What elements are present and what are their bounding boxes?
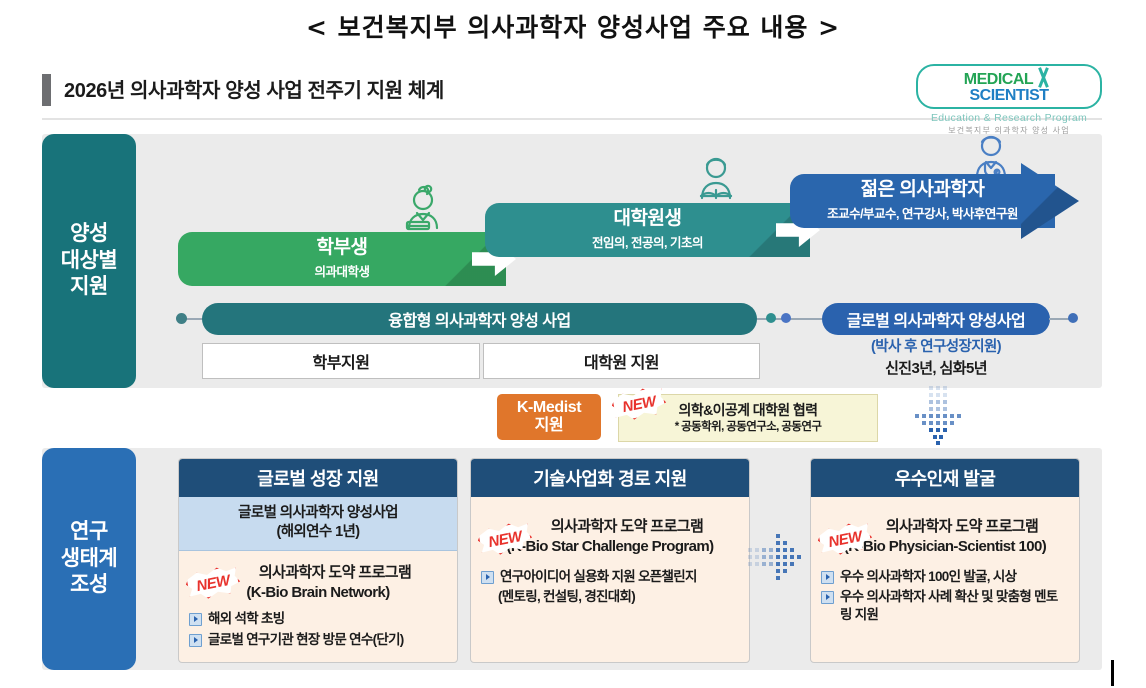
card-header: 우수인재 발굴 bbox=[811, 459, 1079, 497]
logo-wordmark: MEDICALSCIENTIST bbox=[916, 64, 1102, 109]
list-item: (멘토링, 컨설팅, 경진대회) bbox=[481, 588, 739, 606]
halftone-right-arrow-icon bbox=[748, 528, 810, 584]
stage-title: 대학원생 bbox=[614, 209, 682, 230]
new-badge-text: NEW bbox=[827, 527, 863, 550]
logo-x-icon bbox=[1035, 68, 1052, 87]
card-subsection: 글로벌 의사과학자 양성사업 (해외연수 1년) bbox=[179, 497, 457, 551]
stage-arrow-body: 대학원생 전임의, 전공의, 기초의 bbox=[485, 203, 810, 257]
medical-scientist-logo: MEDICALSCIENTIST Education & Research Pr… bbox=[916, 64, 1102, 120]
card-sub-line2: (해외연수 1년) bbox=[185, 523, 451, 542]
logo-word-medical: MEDICAL bbox=[964, 71, 1033, 88]
logo-tagline: Education & Research Program bbox=[916, 112, 1102, 124]
list-item: 해외 석학 초빙 bbox=[189, 610, 447, 628]
logo-word-scientist: SCIENTIST bbox=[969, 87, 1048, 104]
support-box-graduate: 대학원 지원 bbox=[483, 343, 760, 379]
new-badge-text: NEW bbox=[195, 571, 231, 594]
bullet-marker-icon bbox=[821, 591, 834, 604]
new-badge-text: NEW bbox=[621, 392, 657, 415]
stage-title: 학부생 bbox=[317, 238, 368, 259]
student-female-icon bbox=[395, 182, 451, 238]
card-bullet-list: 연구아이디어 실용화 지원 오픈챌린지 (멘토링, 컨설팅, 경진대회) bbox=[481, 568, 739, 607]
bullet-text: 해외 석학 초빙 bbox=[208, 610, 284, 628]
kmedist-label-line2: 지원 bbox=[535, 417, 564, 435]
header-band: 2026년 의사과학자 양성 사업 전주기 지원 체계 MEDICALSCIEN… bbox=[42, 70, 1102, 120]
kmedist-label-line1: K-Medist bbox=[517, 399, 581, 417]
stage-arrow-undergraduate: 학부생 의과대학생 bbox=[178, 232, 506, 286]
card-tech-commercialization: 기술사업화 경로 지원 의사과학자 도약 프로그램 (K-Bio Star Ch… bbox=[470, 458, 750, 663]
list-item: 우수 의사과학자 100인 발굴, 시상 bbox=[821, 568, 1069, 586]
connector-dot-right bbox=[1068, 313, 1078, 323]
bullet-text: 우수 의사과학자 사례 확산 및 맞춤형 멘토링 지원 bbox=[840, 588, 1069, 624]
kmedist-detail-line2: * 공동학위, 공동연구소, 공동연구 bbox=[675, 421, 822, 435]
stage-subtitle: 조교수/부교수, 연구강사, 박사후연구원 bbox=[827, 203, 1018, 222]
list-item: 글로벌 연구기관 현장 방문 연수(단기) bbox=[189, 631, 447, 649]
bullet-marker-icon bbox=[821, 571, 834, 584]
sidebar-label-training-target: 양성 대상별 지원 bbox=[42, 134, 136, 388]
text-cursor-artifact bbox=[1111, 660, 1114, 686]
card-bullet-list: 우수 의사과학자 100인 발굴, 시상 우수 의사과학자 사례 확산 및 맞춤… bbox=[821, 568, 1069, 624]
kmedist-detail-line1: 의학&이공계 대학원 협력 bbox=[679, 402, 818, 419]
sidebar-label-text: 양성 대상별 지원 bbox=[61, 221, 117, 302]
stage-arrow-body: 학부생 의과대학생 bbox=[178, 232, 506, 286]
student-reading-icon bbox=[688, 152, 744, 208]
card-bullet-list: 해외 석학 초빙 글로벌 연구기관 현장 방문 연수(단기) bbox=[189, 610, 447, 649]
page-title: < 보건복지부 의사과학자 양성사업 주요 내용 > bbox=[0, 8, 1146, 44]
stage-arrow-graduate: 대학원생 전임의, 전공의, 기초의 bbox=[485, 203, 810, 257]
global-program-note-1: (박사 후 연구성장지원) bbox=[822, 338, 1050, 356]
new-badge-text: NEW bbox=[487, 527, 523, 550]
list-item: 우수 의사과학자 사례 확산 및 맞춤형 멘토링 지원 bbox=[821, 588, 1069, 624]
card-header: 글로벌 성장 지원 bbox=[179, 459, 457, 497]
bullet-marker-icon bbox=[189, 613, 202, 626]
stage-subtitle: 전임의, 전공의, 기초의 bbox=[592, 232, 703, 251]
global-program-note-2: 신진3년, 심화5년 bbox=[822, 357, 1050, 378]
card-body: 의사과학자 도약 프로그램 (K-Bio Physician-Scientist… bbox=[811, 497, 1079, 637]
bullet-text: 우수 의사과학자 100인 발굴, 시상 bbox=[840, 568, 1016, 586]
support-box-undergraduate: 학부지원 bbox=[202, 343, 480, 379]
bullet-text: 연구아이디어 실용화 지원 오픈챌린지 bbox=[500, 568, 697, 586]
connector-dot-middle-teal bbox=[766, 313, 776, 323]
connector-dot-middle-blue bbox=[781, 313, 791, 323]
infographic-page: < 보건복지부 의사과학자 양성사업 주요 내용 > 2026년 의사과학자 양… bbox=[0, 0, 1146, 688]
bullet-text: 글로벌 연구기관 현장 방문 연수(단기) bbox=[208, 631, 404, 649]
list-item: 연구아이디어 실용화 지원 오픈챌린지 bbox=[481, 568, 739, 586]
card-body: 의사과학자 도약 프로그램 (K-Bio Star Challenge Prog… bbox=[471, 497, 749, 619]
bullet-marker-icon bbox=[481, 571, 494, 584]
kmedist-label: K-Medist 지원 bbox=[497, 394, 601, 440]
program-pill-convergence: 융합형 의사과학자 양성 사업 bbox=[202, 303, 757, 335]
stage-arrow-body: 젊은 의사과학자 조교수/부교수, 연구강사, 박사후연구원 bbox=[790, 174, 1055, 228]
card-sub-line1: 글로벌 의사과학자 양성사업 bbox=[185, 504, 451, 523]
header-title: 2026년 의사과학자 양성 사업 전주기 지원 체계 bbox=[64, 74, 444, 103]
card-global-growth: 글로벌 성장 지원 글로벌 의사과학자 양성사업 (해외연수 1년) 의사과학자… bbox=[178, 458, 458, 663]
halftone-down-arrow-icon bbox=[905, 386, 969, 448]
bullet-marker-icon bbox=[189, 634, 202, 647]
sidebar-label-text: 연구 생태계 조성 bbox=[61, 519, 117, 600]
stage-arrow-young-physician-scientist: 젊은 의사과학자 조교수/부교수, 연구강사, 박사후연구원 bbox=[790, 174, 1055, 228]
header-accent-bar bbox=[42, 74, 51, 106]
stage-title: 젊은 의사과학자 bbox=[861, 180, 985, 201]
card-header: 기술사업화 경로 지원 bbox=[471, 459, 749, 497]
connector-dot-left bbox=[176, 313, 187, 324]
card-talent-discovery: 우수인재 발굴 의사과학자 도약 프로그램 (K-Bio Physician-S… bbox=[810, 458, 1080, 663]
bullet-text: (멘토링, 컨설팅, 경진대회) bbox=[498, 588, 635, 606]
sidebar-label-research-ecosystem: 연구 생태계 조성 bbox=[42, 448, 136, 670]
program-pill-global: 글로벌 의사과학자 양성사업 bbox=[822, 303, 1050, 335]
stage-subtitle: 의과대학생 bbox=[314, 261, 369, 280]
